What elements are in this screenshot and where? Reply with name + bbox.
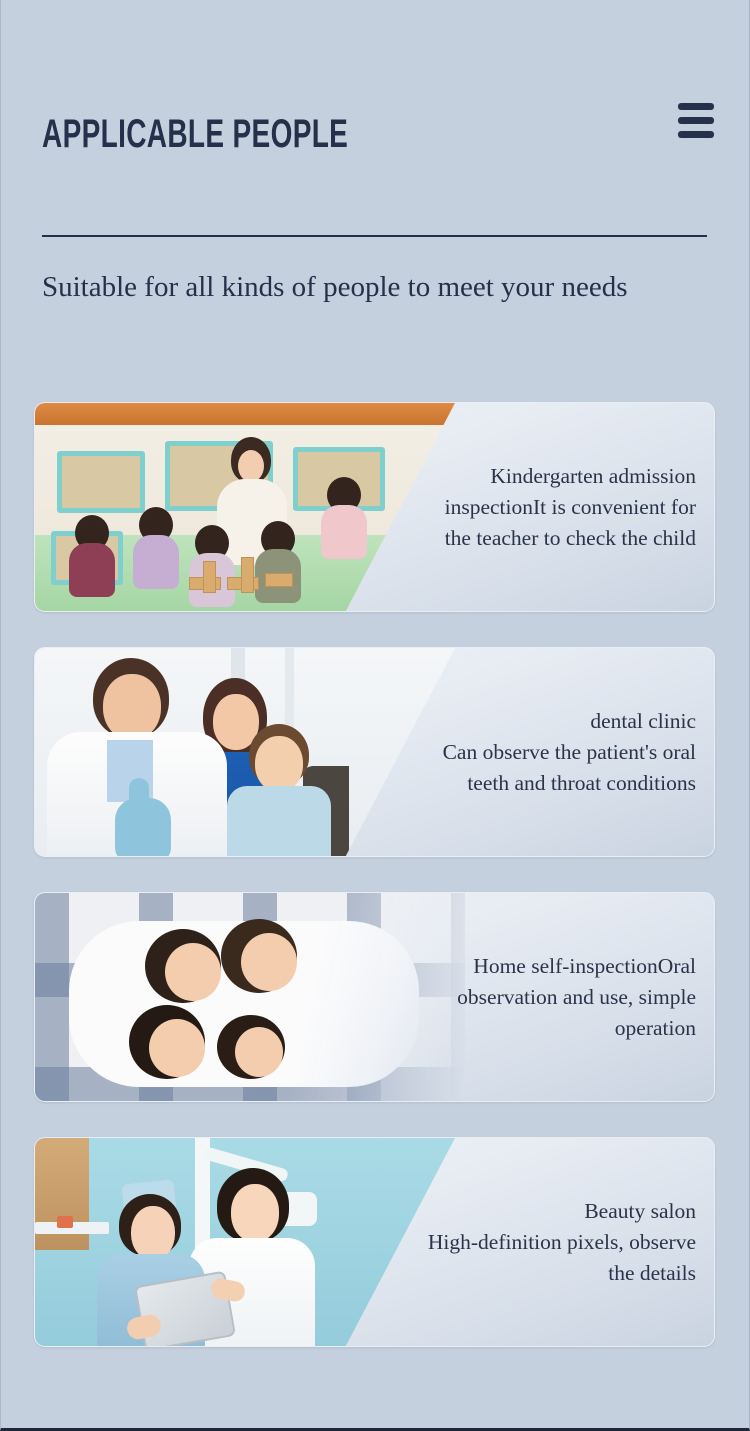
card-text-line: Can observe the patient's oral (443, 737, 696, 768)
card-text: dental clinic Can observe the patient's … (366, 648, 696, 856)
list-item[interactable]: dental clinic Can observe the patient's … (34, 647, 715, 857)
header-divider (42, 235, 707, 237)
card-text-line: the teacher to check the child (445, 523, 696, 554)
card-text-line: observation and use, simple (457, 982, 696, 1013)
card-text-line: dental clinic (590, 706, 696, 737)
page-title: APPLICABLE PEOPLE (42, 112, 348, 156)
card-text-line: Home self-inspectionOral (473, 951, 696, 982)
applicable-people-card-list: Kindergarten admission inspectionIt is c… (34, 402, 715, 1382)
page-root: APPLICABLE PEOPLE Suitable for all kinds… (0, 0, 750, 1431)
list-item[interactable]: Home self-inspectionOral observation and… (34, 892, 715, 1102)
card-text-line: the details (608, 1258, 696, 1289)
card-text-line: Kindergarten admission (490, 461, 696, 492)
page-subtitle: Suitable for all kinds of people to meet… (42, 269, 712, 305)
card-text-line: teeth and throat conditions (467, 768, 696, 799)
card-text-line: inspectionIt is convenient for (445, 492, 696, 523)
menu-bar-1 (678, 103, 714, 110)
card-text: Home self-inspectionOral observation and… (366, 893, 696, 1101)
menu-bar-2 (678, 117, 714, 124)
page-header: APPLICABLE PEOPLE Suitable for all kinds… (1, 0, 750, 236)
hamburger-menu-icon[interactable] (678, 100, 720, 140)
card-text: Kindergarten admission inspectionIt is c… (366, 403, 696, 611)
card-text-line: Beauty salon (584, 1196, 696, 1227)
list-item[interactable]: Beauty salon High-definition pixels, obs… (34, 1137, 715, 1347)
card-text-line: High-definition pixels, observe (428, 1227, 696, 1258)
card-text: Beauty salon High-definition pixels, obs… (366, 1138, 696, 1346)
list-item[interactable]: Kindergarten admission inspectionIt is c… (34, 402, 715, 612)
card-text-line: operation (615, 1013, 696, 1044)
menu-bar-3 (678, 131, 714, 138)
